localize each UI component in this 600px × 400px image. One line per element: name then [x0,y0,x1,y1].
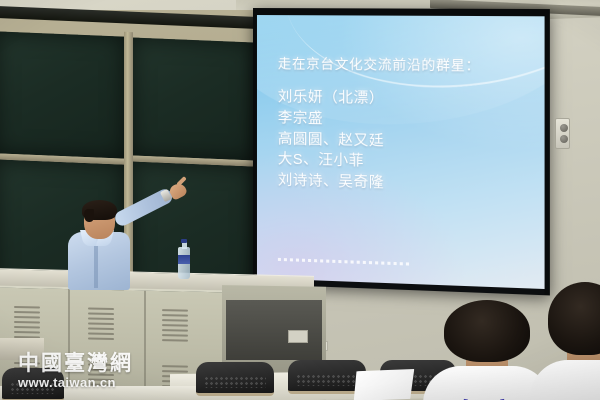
speaker-figure [60,196,185,288]
water-bottle [178,239,190,279]
desk-surface [0,338,44,360]
chalkboard-panel [0,31,124,158]
cabinet-vent [162,309,188,342]
audience-hair [444,300,530,362]
photo-scene: 走在京台文化交流前沿的群星： 刘乐妍（北漂） 李宗盛 高圆圆、赵又廷 大S、汪小… [0,0,600,400]
slide-title: 走在京台文化交流前沿的群星： [278,52,533,75]
cabinet-vent [88,308,114,341]
audience-hair [548,282,600,355]
projector-screen: 走在京台文化交流前沿的群星： 刘乐妍（北漂） 李宗盛 高圆圆、赵又廷 大S、汪小… [253,8,550,295]
cabinet-vent [14,306,40,339]
equipment-panel [288,330,308,343]
bottle-cap [181,239,187,243]
cabinet-seam [68,289,70,400]
slide-divider-dashes [278,257,409,265]
presentation-slide: 走在京台文化交流前沿的群星： 刘乐妍（北漂） 李宗盛 高圆圆、赵又廷 大S、汪小… [257,15,545,289]
bottle-label [178,255,190,264]
shirt-placket [94,242,98,288]
wall-control-button-down[interactable] [560,135,568,143]
classroom-chair [196,362,274,396]
wall-control-button-up[interactable] [560,124,568,132]
slide-name-list: 刘乐妍（北漂） 李宗盛 高圆圆、赵又廷 大S、汪小菲 刘诗诗、吴奇隆 [278,87,533,199]
audience-member [548,282,600,400]
chalkboard-panel [132,37,254,160]
speaker-hair [82,200,117,220]
classroom-chair [288,360,366,394]
audience-member [444,300,530,400]
wall-control-panel[interactable] [555,118,570,149]
slide-text-block: 走在京台文化交流前沿的群星： 刘乐妍（北漂） 李宗盛 高圆圆、赵又廷 大S、汪小… [278,52,533,199]
classroom-chair [2,368,64,400]
cabinet-seam [144,291,146,400]
